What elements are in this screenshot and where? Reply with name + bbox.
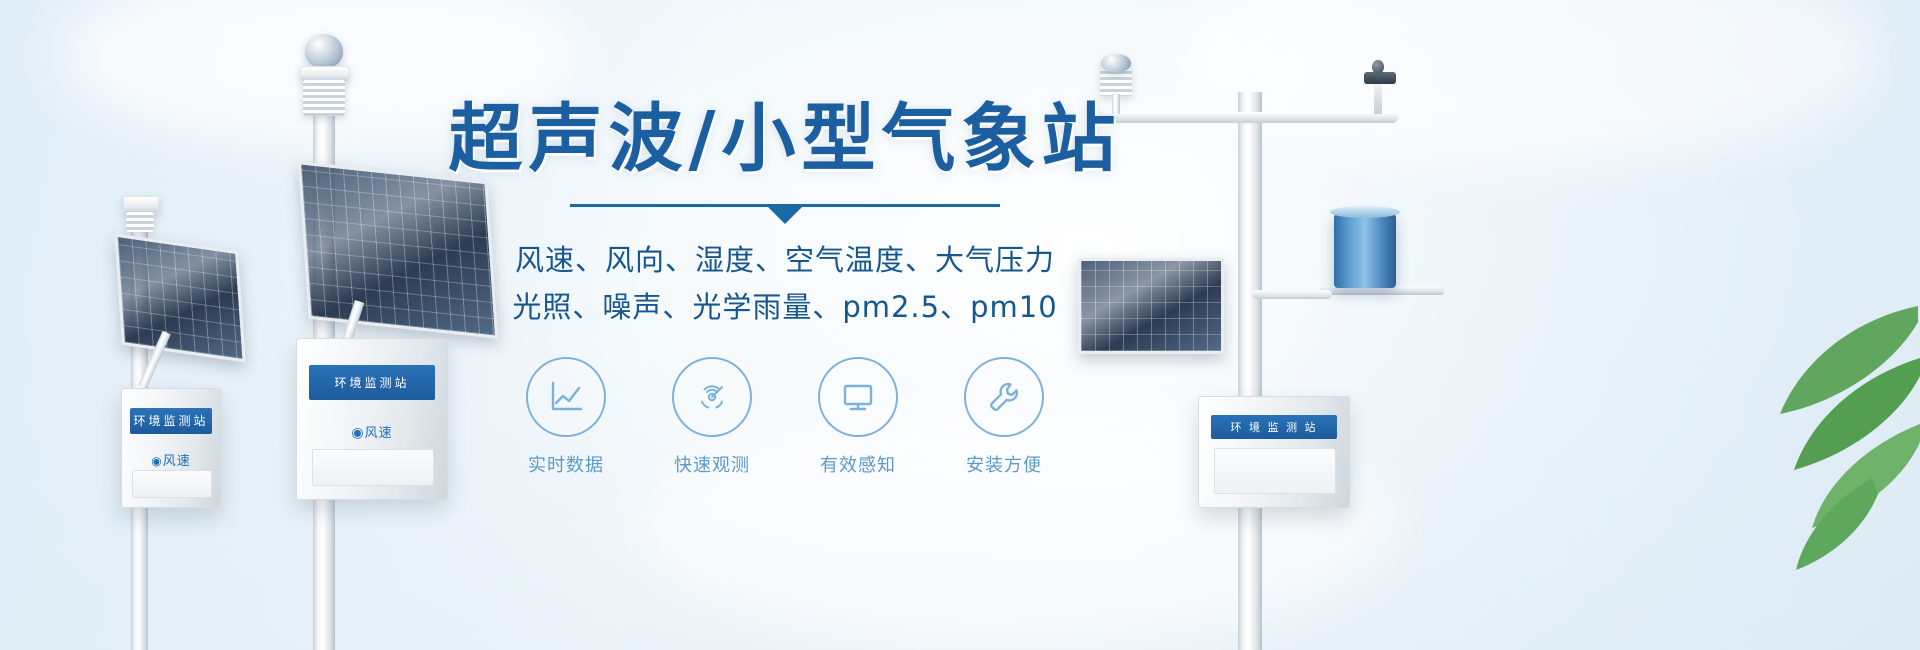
subtitle-group: 风速、风向、湿度、空气温度、大气压力 光照、噪声、光学雨量、pm2.5、pm10 <box>430 237 1140 331</box>
feature-icon-circle <box>526 357 606 437</box>
sky-dome-sensor <box>305 34 343 68</box>
cabinet-brand-logo: ◉风速 <box>351 422 392 441</box>
radar-gauge-icon <box>691 376 733 418</box>
cabinet-label-strip: 环境监测站 <box>130 408 212 434</box>
radiation-shield <box>126 212 154 232</box>
monitor-icon <box>837 376 879 418</box>
feature-label: 有效感知 <box>814 451 902 477</box>
ultrasonic-sensor-head <box>1101 54 1131 72</box>
cabinet-middle: 环境监测站 ◉风速 <box>296 338 448 500</box>
feature-item-easy-install[interactable]: 安装方便 <box>960 357 1048 477</box>
feature-icon-circle <box>964 357 1044 437</box>
line-chart-icon <box>545 376 587 418</box>
subtitle-line-1: 风速、风向、湿度、空气温度、大气压力 <box>430 237 1140 284</box>
feature-item-fast-observation[interactable]: 快速观测 <box>668 357 756 477</box>
radiation-shield <box>303 80 345 116</box>
feature-item-realtime-data[interactable]: 实时数据 <box>522 357 610 477</box>
solar-panel <box>114 233 245 362</box>
wind-vane-sensor <box>1364 56 1396 114</box>
feature-item-effective-sensing[interactable]: 有效感知 <box>814 357 902 477</box>
cabinet-door <box>1214 448 1336 494</box>
feature-icon-circle <box>818 357 898 437</box>
feature-list: 实时数据 快速观测 <box>430 357 1140 477</box>
page-title: 超声波/小型气象站 <box>430 100 1140 178</box>
title-divider <box>570 204 1000 207</box>
wrench-icon <box>983 376 1025 418</box>
cabinet-label-strip: 环境监测站 <box>309 365 435 400</box>
station-pole <box>1238 92 1262 650</box>
caret-down-icon <box>768 207 802 224</box>
radiation-shield <box>1100 68 1132 96</box>
subtitle-line-2: 光照、噪声、光学雨量、pm2.5、pm10 <box>430 284 1140 331</box>
cabinet-right: 环 境 监 测 站 <box>1198 396 1350 508</box>
feature-label: 快速观测 <box>668 451 756 477</box>
cabinet-label-strip: 环 境 监 测 站 <box>1211 415 1337 439</box>
cross-arm <box>1098 112 1398 123</box>
shelf-arm <box>1252 290 1332 299</box>
leaf-decor-right <box>1660 292 1920 592</box>
feature-label: 实时数据 <box>522 451 610 477</box>
cabinet-door <box>312 449 434 486</box>
cabinet-door <box>132 470 212 498</box>
feature-icon-circle <box>672 357 752 437</box>
cabinet-left: 环境监测站 ◉风速 <box>121 388 221 508</box>
rain-gauge <box>1334 212 1396 288</box>
cloud-decor <box>1180 0 1880 170</box>
cabinet-brand-logo: ◉风速 <box>151 450 191 469</box>
banner-content: 超声波/小型气象站 风速、风向、湿度、空气温度、大气压力 光照、噪声、光学雨量、… <box>430 100 1140 477</box>
rain-gauge-rim <box>1330 206 1400 218</box>
product-banner: 环境监测站 ◉风速 环境监测站 ◉风速 <box>0 0 1920 650</box>
feature-label: 安装方便 <box>960 451 1048 477</box>
